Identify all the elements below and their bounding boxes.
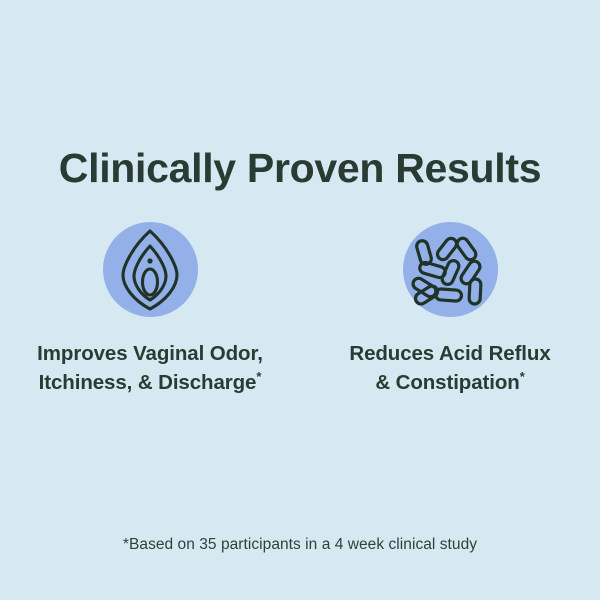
vaginal-health-icon — [114, 228, 186, 312]
benefit-label-line-2-wrap: & Constipation* — [349, 368, 550, 397]
benefit-label-line-2: Itchiness, & Discharge — [39, 371, 257, 394]
footnote-marker: * — [256, 369, 261, 384]
benefit-label-line-2-wrap: Itchiness, & Discharge* — [37, 368, 263, 397]
benefit-label-line-1: Improves Vaginal Odor, — [37, 339, 263, 368]
benefit-label: Improves Vaginal Odor, Itchiness, & Disc… — [37, 339, 263, 397]
probiotic-bacteria-icon — [410, 230, 490, 310]
benefit-item-vaginal-health: Improves Vaginal Odor, Itchiness, & Disc… — [0, 222, 300, 397]
promo-card: Clinically Proven Results — [0, 0, 600, 600]
benefit-item-digestive-health: Reduces Acid Reflux & Constipation* — [300, 222, 600, 397]
benefit-label-line-1: Reduces Acid Reflux — [349, 339, 550, 368]
benefit-label: Reduces Acid Reflux & Constipation* — [349, 339, 550, 397]
footnote-marker: * — [520, 369, 525, 384]
benefit-label-line-2: & Constipation — [375, 371, 519, 394]
benefits-row: Improves Vaginal Odor, Itchiness, & Disc… — [0, 222, 600, 397]
benefit-icon-badge — [103, 222, 198, 317]
footnote-text: *Based on 35 participants in a 4 week cl… — [0, 536, 600, 554]
page-title: Clinically Proven Results — [0, 145, 600, 192]
benefit-icon-badge — [403, 222, 498, 317]
